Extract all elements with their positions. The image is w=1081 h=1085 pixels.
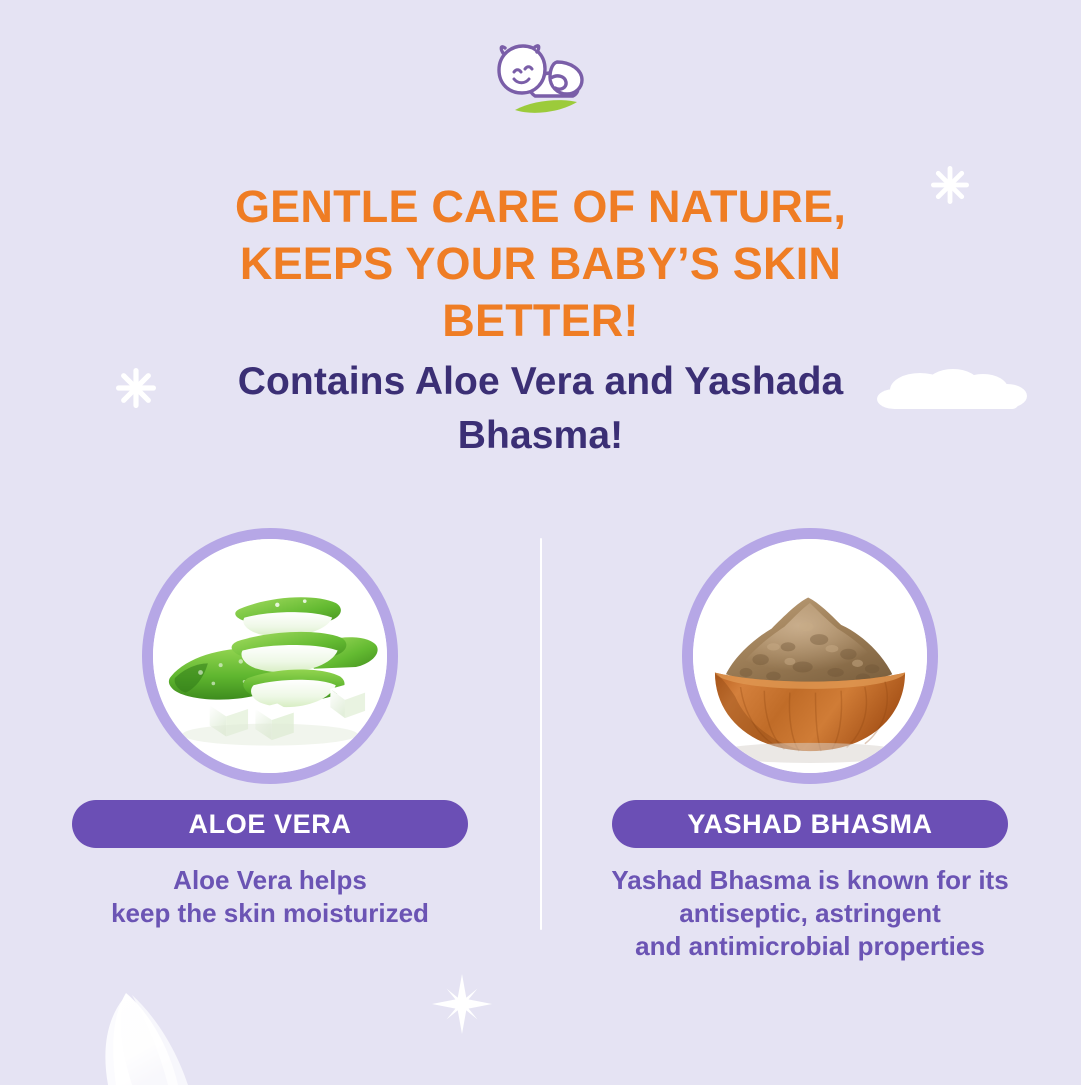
brand-logo — [0, 36, 1081, 118]
ingredient-caption-yashad-bhasma: Yashad Bhasma is known for its antisepti… — [611, 864, 1008, 962]
ingredient-caption-aloe-vera: Aloe Vera helps keep the skin moisturize… — [111, 864, 429, 930]
heading-block: GENTLE CARE OF NATURE, KEEPS YOUR BABY’S… — [0, 178, 1081, 462]
ingredients-row: ALOE VERA Aloe Vera helps keep the skin … — [0, 528, 1081, 962]
infographic-canvas: GENTLE CARE OF NATURE, KEEPS YOUR BABY’S… — [0, 0, 1081, 1081]
ingredient-label-aloe-vera: ALOE VERA — [72, 800, 468, 848]
feather-icon — [28, 965, 268, 1085]
four-point-star-icon — [430, 972, 494, 1036]
sleeping-baby-logo-icon — [487, 36, 595, 118]
ingredient-label-yashad-bhasma: YASHAD BHASMA — [612, 800, 1008, 848]
aloe-vera-image-frame — [142, 528, 398, 784]
ingredient-card-aloe-vera: ALOE VERA Aloe Vera helps keep the skin … — [0, 528, 540, 962]
ingredient-card-yashad-bhasma: YASHAD BHASMA Yashad Bhasma is known for… — [540, 528, 1080, 962]
yashad-bhasma-image-frame — [682, 528, 938, 784]
page-subtitle: Contains Aloe Vera and Yashada Bhasma! — [161, 355, 921, 462]
page-title: GENTLE CARE OF NATURE, KEEPS YOUR BABY’S… — [171, 178, 911, 349]
aloe-vera-photo — [153, 539, 387, 773]
yashad-bhasma-bowl-photo — [693, 539, 927, 773]
